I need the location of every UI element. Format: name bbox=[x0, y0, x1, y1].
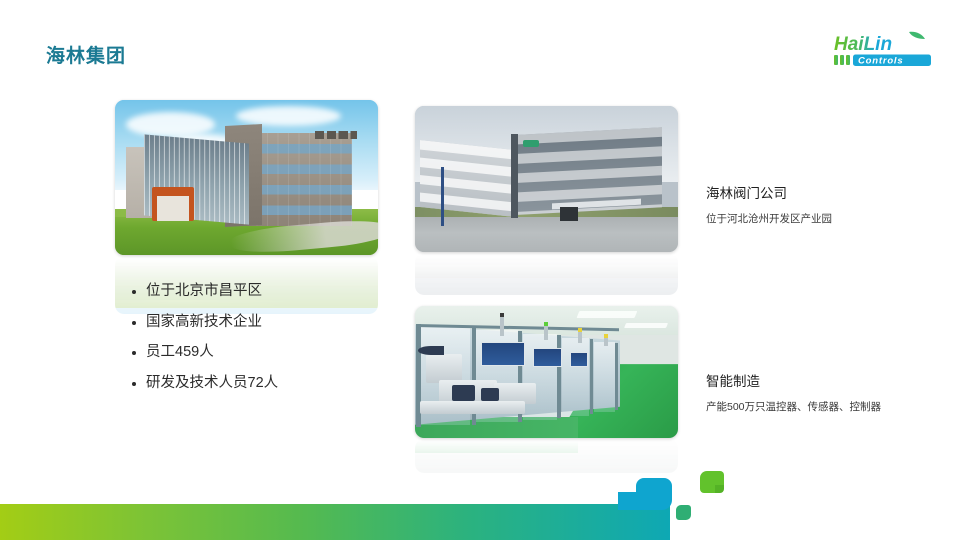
valve-factory-building-photo bbox=[415, 106, 678, 252]
list-item: 国家高新技术企业 bbox=[132, 314, 412, 331]
list-item: 员工459人 bbox=[132, 344, 412, 361]
headquarters-office-building-photo bbox=[115, 100, 378, 255]
caption-heading: 智能制造 bbox=[706, 374, 881, 390]
hailin-controls-logo: HaiLin Controls bbox=[830, 31, 940, 69]
caption-subtext: 位于河北沧州开发区产业园 bbox=[706, 212, 832, 227]
caption-subtext: 产能500万只温控器、传感器、控制器 bbox=[706, 400, 881, 415]
bottom-gradient-bar bbox=[0, 504, 670, 540]
valve-factory-photo-reflection bbox=[415, 253, 678, 295]
svg-text:HaiLin: HaiLin bbox=[834, 34, 892, 55]
list-item: 研发及技术人员72人 bbox=[132, 375, 412, 392]
teal-hook-shape bbox=[636, 478, 672, 510]
smart-manufacturing-line-photo bbox=[415, 306, 678, 438]
manufacturing-photo-reflection bbox=[415, 439, 678, 473]
company-facts-list: 位于北京市昌平区 国家高新技术企业 员工459人 研发及技术人员72人 bbox=[132, 283, 412, 406]
svg-text:Controls: Controls bbox=[858, 56, 903, 67]
page-title: 海林集团 bbox=[46, 41, 126, 68]
slide-canvas: 海林集团 HaiLin bbox=[0, 0, 960, 540]
green-square-accent bbox=[700, 471, 724, 493]
valve-company-caption: 海林阀门公司 位于河北沧州开发区产业园 bbox=[706, 186, 832, 227]
caption-heading: 海林阀门公司 bbox=[706, 186, 832, 202]
mint-square-accent bbox=[676, 505, 691, 520]
smart-manufacturing-caption: 智能制造 产能500万只温控器、传感器、控制器 bbox=[706, 374, 881, 415]
list-item: 位于北京市昌平区 bbox=[132, 283, 412, 300]
